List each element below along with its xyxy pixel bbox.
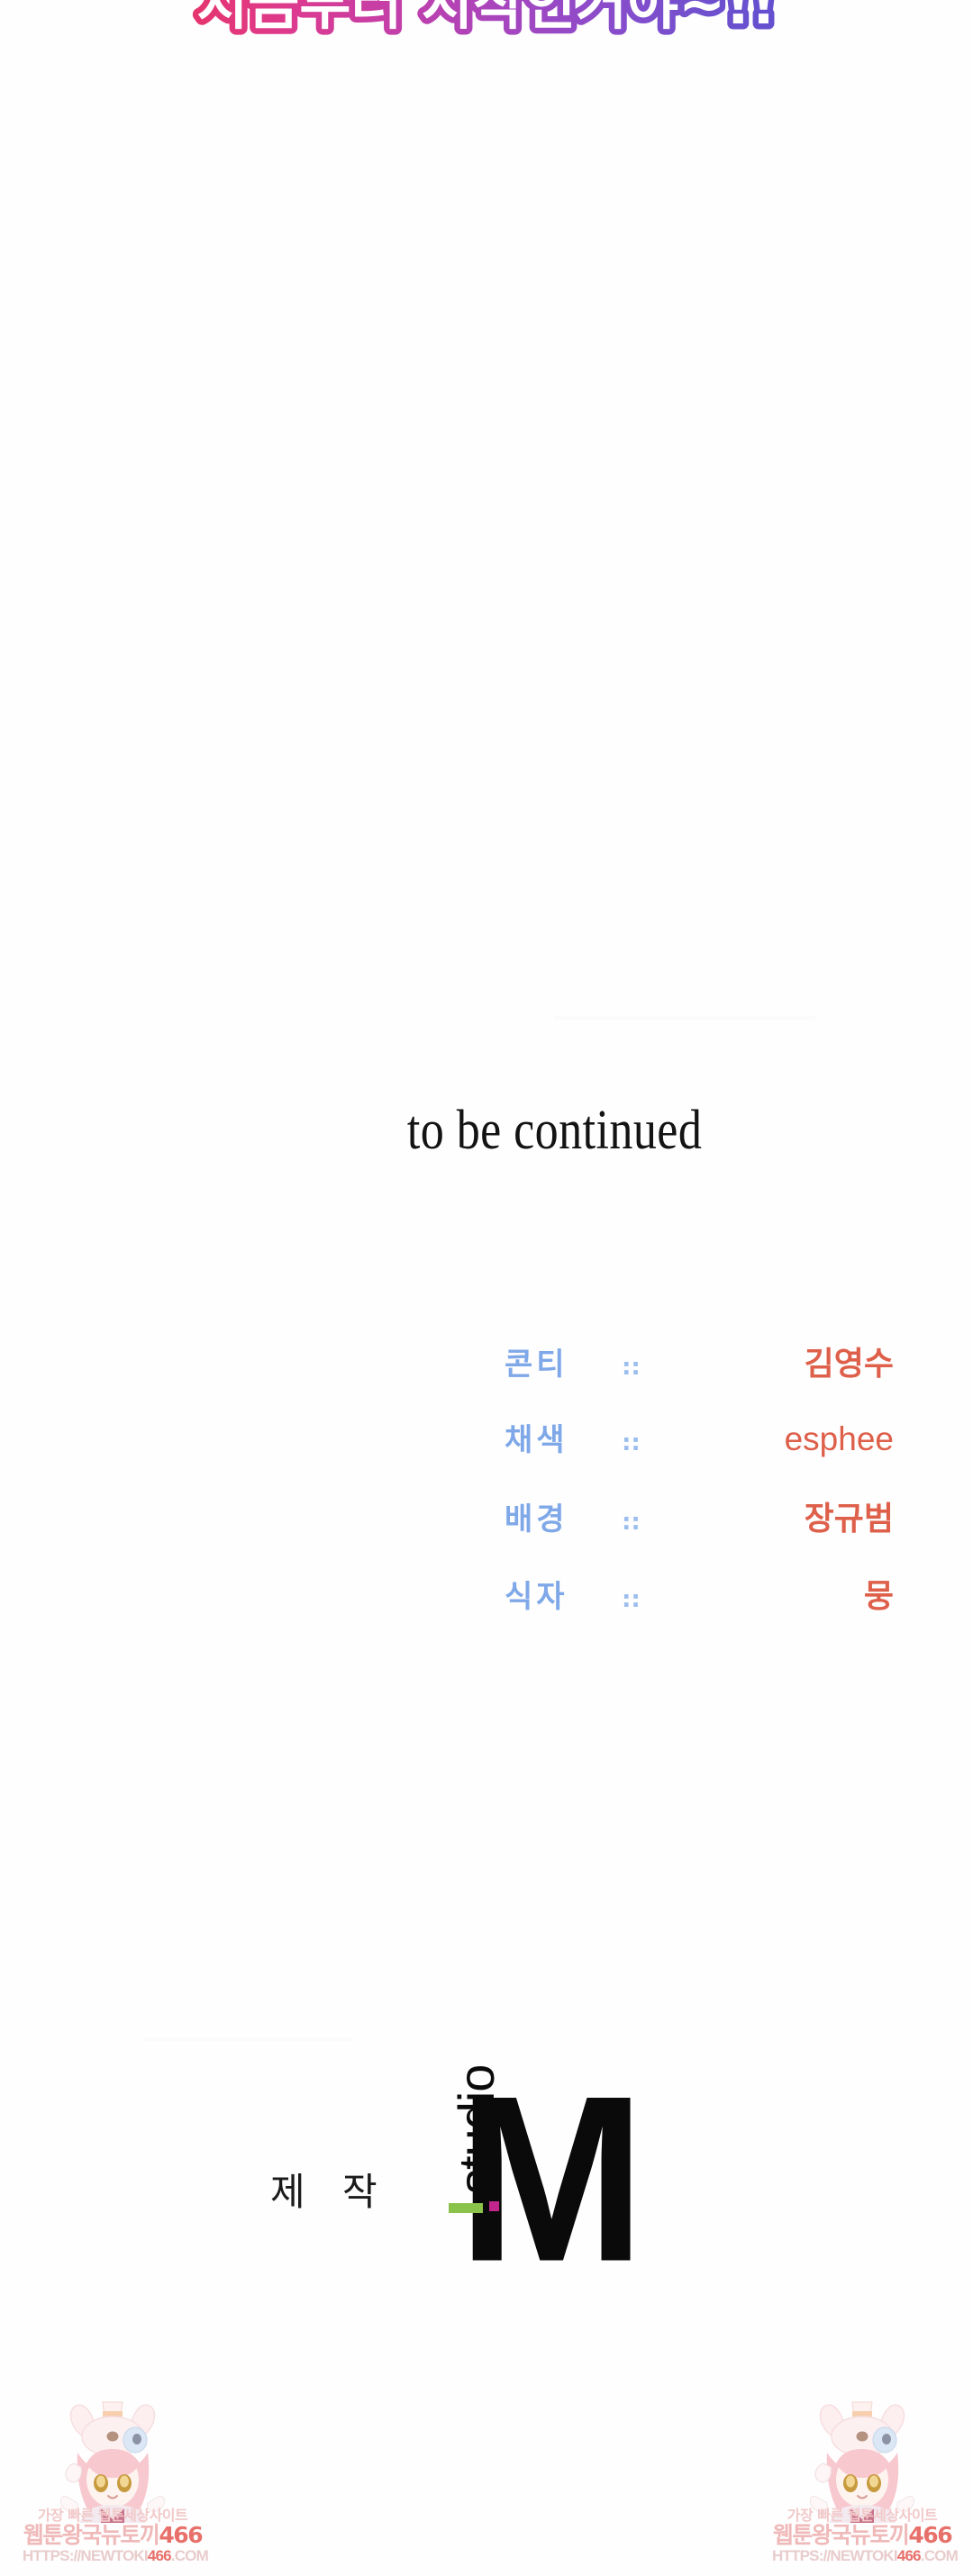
studio-magenta-dot-icon <box>489 2201 499 2211</box>
studio-green-bar-icon <box>449 2203 483 2213</box>
credit-role-label: 채색 <box>505 1415 622 1459</box>
credit-role-label: 식자 <box>505 1572 622 1616</box>
mascot-character-icon <box>56 2397 169 2523</box>
watermark-url-number: 466 <box>148 2547 171 2564</box>
watermark-url: HTTPS://NEWTOKI466.COM <box>772 2548 952 2563</box>
watermark-url-prefix: HTTPS://NEWTOKI <box>772 2547 897 2564</box>
site-watermark: 가장 빠른 웹툰세상사이트 웹툰왕국뉴토끼466 HTTPS://NEWTOKI… <box>750 2391 973 2576</box>
credit-person-name: 뭉 <box>685 1570 919 1617</box>
credit-person-name: 김영수 <box>685 1338 919 1384</box>
credit-separator: :: <box>622 1509 685 1536</box>
watermark-brand: 웹툰왕국뉴토끼466 <box>23 2524 203 2547</box>
scan-artifact <box>144 2037 351 2041</box>
watermark-tagline: 가장 빠른 웹툰세상사이트 <box>772 2508 952 2523</box>
studio-wordmark: studio <box>447 2065 505 2194</box>
watermark-url-suffix: .COM <box>171 2547 208 2564</box>
site-watermark: 가장 빠른 웹툰세상사이트 웹툰왕국뉴토끼466 HTTPS://NEWTOKI… <box>0 2391 225 2576</box>
watermark-text-block: 가장 빠른 웹툰세상사이트 웹툰왕국뉴토끼466 HTTPS://NEWTOKI… <box>772 2508 952 2563</box>
credit-person-name: 장규범 <box>685 1492 919 1539</box>
production-credit: 제 작 M studio <box>0 2054 973 2324</box>
credit-person-name: esphee <box>685 1420 919 1458</box>
to-be-continued-text: to be continued <box>77 1099 895 1163</box>
webtoon-end-page: 너의 행복은 단 하나뿐 너의 행복은 단 하나뿐 지금부터 시작인거야~!! … <box>0 0 973 2576</box>
watermark-brand-number: 466 <box>159 2522 202 2548</box>
watermark-url-number: 466 <box>897 2547 921 2564</box>
watermark-url-prefix: HTTPS://NEWTOKI <box>23 2547 148 2564</box>
watermark-brand-name: 웹툰왕국뉴토끼 <box>773 2522 909 2548</box>
credits-list: 콘티 :: 김영수 채색 :: esphee 배경 :: 장규범 식자 :: 뭉 <box>505 1338 919 1647</box>
shout-text-block: 너의 행복은 단 하나뿐 너의 행복은 단 하나뿐 지금부터 시작인거야~!! … <box>0 0 973 62</box>
credit-separator: :: <box>622 1429 685 1456</box>
svg-text:지금부터 시작인거야~!!: 지금부터 시작인거야~!! <box>196 0 776 37</box>
credit-row: 콘티 :: 김영수 <box>505 1338 919 1415</box>
watermark-brand: 웹툰왕국뉴토끼466 <box>772 2524 952 2547</box>
watermark-brand-number: 466 <box>908 2522 951 2548</box>
credit-row: 채색 :: esphee <box>505 1415 919 1492</box>
credit-separator: :: <box>622 1586 685 1613</box>
mascot-character-icon <box>805 2397 919 2523</box>
credit-row: 배경 :: 장규범 <box>505 1492 919 1570</box>
watermark-text-block: 가장 빠른 웹툰세상사이트 웹툰왕국뉴토끼466 HTTPS://NEWTOKI… <box>23 2508 203 2563</box>
credit-separator: :: <box>622 1354 685 1381</box>
scan-artifact <box>554 1016 815 1020</box>
credit-role-label: 배경 <box>505 1494 622 1538</box>
production-label: 제 작 <box>270 2162 390 2217</box>
credit-row: 식자 :: 뭉 <box>505 1570 919 1647</box>
watermark-tagline: 가장 빠른 웹툰세상사이트 <box>23 2508 203 2523</box>
to-be-continued-label: to be continued <box>407 1099 702 1163</box>
watermark-url-suffix: .COM <box>921 2547 958 2564</box>
watermark-url: HTTPS://NEWTOKI466.COM <box>23 2548 203 2563</box>
shout-line-2: 지금부터 시작인거야~!! 지금부터 시작인거야~!! <box>196 0 776 37</box>
watermark-brand-name: 웹툰왕국뉴토끼 <box>23 2522 159 2548</box>
credit-role-label: 콘티 <box>505 1339 622 1383</box>
